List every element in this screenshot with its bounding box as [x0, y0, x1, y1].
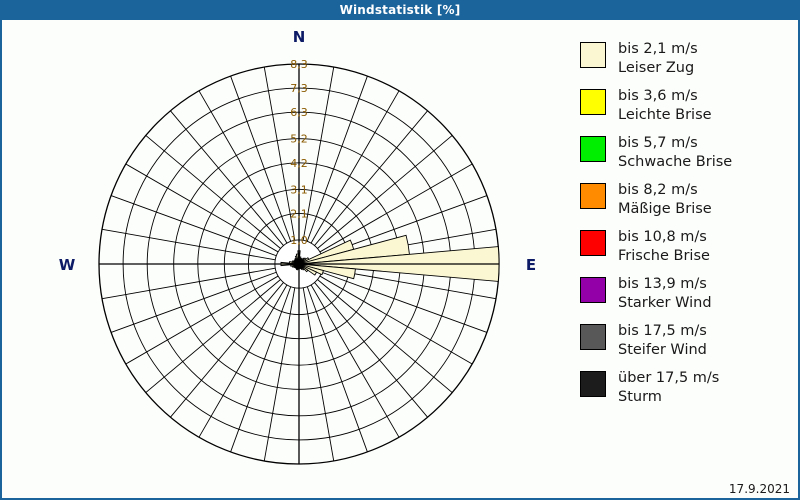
- radial-tick-label: 5,2: [290, 133, 308, 146]
- legend-label: bis 2,1 m/sLeiser Zug: [618, 40, 698, 78]
- grid-spoke: [314, 111, 427, 246]
- grid-spoke: [146, 279, 281, 392]
- grid-spoke: [231, 287, 291, 452]
- grid-spoke: [311, 91, 399, 243]
- date-stamp: 17.9.2021: [729, 482, 790, 496]
- radial-tick-label: 4,2: [290, 157, 308, 170]
- wind-rose-svg: 1,02,13,14,25,26,37,38,3 N E S W: [2, 20, 568, 480]
- legend-item: bis 13,9 m/sStarker Wind: [580, 275, 795, 313]
- legend-name: Sturm: [618, 388, 719, 407]
- legend-name: Frische Brise: [618, 247, 710, 266]
- legend-speed: bis 3,6 m/s: [618, 88, 698, 104]
- grid-spoke: [199, 285, 287, 437]
- legend-name: Leiser Zug: [618, 59, 698, 78]
- radial-tick-label: 1,0: [290, 234, 308, 247]
- legend-item: bis 10,8 m/sFrische Brise: [580, 228, 795, 266]
- legend-name: Starker Wind: [618, 294, 712, 313]
- legend-speed: bis 5,7 m/s: [618, 135, 698, 151]
- legend-speed: bis 2,1 m/s: [618, 41, 698, 57]
- radial-tick-label: 8,3: [290, 58, 308, 71]
- legend: bis 2,1 m/sLeiser Zugbis 3,6 m/sLeichte …: [580, 40, 795, 390]
- legend-speed: bis 17,5 m/s: [618, 323, 707, 339]
- grid-spoke: [307, 76, 367, 241]
- legend-label: bis 10,8 m/sFrische Brise: [618, 228, 710, 266]
- grid-spoke: [126, 276, 278, 364]
- grid-spoke: [307, 287, 367, 452]
- grid-spoke: [231, 76, 291, 241]
- legend-swatch: [580, 183, 606, 209]
- legend-speed: bis 10,8 m/s: [618, 229, 707, 245]
- grid-spoke: [102, 268, 275, 299]
- grid-spoke: [303, 288, 334, 461]
- compass-label-east: E: [526, 256, 536, 274]
- windstatistik-window: Windstatistik [%] 1,02,13,14,25,26,37,38…: [0, 0, 800, 500]
- legend-name: Leichte Brise: [618, 106, 712, 125]
- legend-label: bis 13,9 m/sStarker Wind: [618, 275, 712, 313]
- grid-spoke: [303, 67, 334, 240]
- legend-speed: über 17,5 m/s: [618, 370, 719, 386]
- compass-label-north: N: [293, 28, 306, 46]
- grid-spoke: [317, 135, 452, 248]
- legend-speed: bis 13,9 m/s: [618, 276, 707, 292]
- legend-label: bis 17,5 m/sSteifer Wind: [618, 322, 707, 360]
- legend-item: über 17,5 m/sSturm: [580, 369, 795, 407]
- radial-tick-label: 2,1: [290, 207, 308, 220]
- radial-tick-label: 3,1: [290, 183, 308, 196]
- grid-spoke: [126, 164, 278, 252]
- grid-spoke: [317, 279, 452, 392]
- legend-item: bis 5,7 m/sSchwache Brise: [580, 134, 795, 172]
- legend-item: bis 8,2 m/sMäßige Brise: [580, 181, 795, 219]
- legend-name: Schwache Brise: [618, 153, 732, 172]
- grid-spoke: [146, 135, 281, 248]
- legend-name: Steifer Wind: [618, 341, 707, 360]
- window-title-bar: Windstatistik [%]: [0, 0, 800, 20]
- legend-swatch: [580, 89, 606, 115]
- legend-name: Mäßige Brise: [618, 200, 712, 219]
- legend-label: bis 5,7 m/sSchwache Brise: [618, 134, 732, 172]
- grid-spoke: [264, 288, 295, 461]
- legend-item: bis 17,5 m/sSteifer Wind: [580, 322, 795, 360]
- legend-swatch: [580, 230, 606, 256]
- grid-spoke: [111, 196, 276, 256]
- legend-swatch: [580, 42, 606, 68]
- legend-speed: bis 8,2 m/s: [618, 182, 698, 198]
- legend-label: bis 3,6 m/sLeichte Brise: [618, 87, 712, 125]
- radial-tick-label: 7,3: [290, 82, 308, 95]
- legend-label: bis 8,2 m/sMäßige Brise: [618, 181, 712, 219]
- grid-spoke: [314, 282, 427, 417]
- grid-spoke: [111, 272, 276, 332]
- grid-spoke: [170, 282, 283, 417]
- legend-swatch: [580, 136, 606, 162]
- legend-swatch: [580, 324, 606, 350]
- grid-spoke: [170, 111, 283, 246]
- wind-rose-chart: 1,02,13,14,25,26,37,38,3 N E S W: [2, 20, 568, 480]
- grid-spoke: [102, 229, 275, 260]
- window-title: Windstatistik [%]: [340, 3, 461, 17]
- compass-label-west: W: [59, 256, 76, 274]
- radial-tick-label: 6,3: [290, 106, 308, 119]
- wind-rose-petals: [281, 235, 499, 281]
- window-content: 1,02,13,14,25,26,37,38,3 N E S W bis 2,1…: [2, 20, 798, 498]
- legend-item: bis 3,6 m/sLeichte Brise: [580, 87, 795, 125]
- grid-spoke: [311, 285, 399, 437]
- legend-swatch: [580, 277, 606, 303]
- grid-spoke: [199, 91, 287, 243]
- legend-swatch: [580, 371, 606, 397]
- legend-item: bis 2,1 m/sLeiser Zug: [580, 40, 795, 78]
- grid-spoke: [322, 272, 487, 332]
- grid-spoke: [320, 276, 472, 364]
- polar-axes: [99, 64, 499, 464]
- legend-label: über 17,5 m/sSturm: [618, 369, 719, 407]
